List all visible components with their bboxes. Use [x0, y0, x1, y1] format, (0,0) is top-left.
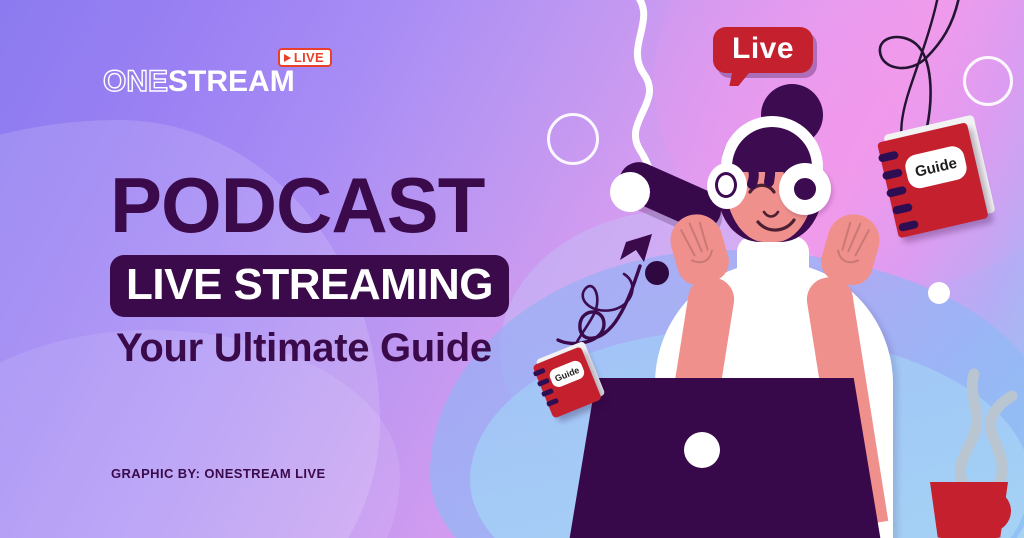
logo-word-stream: STREAM [168, 65, 295, 98]
headline-block: PODCAST LIVE STREAMING Your Ultimate Gui… [110, 168, 509, 368]
logo-live-badge-label: LIVE [294, 51, 324, 64]
play-triangle-icon [284, 54, 291, 62]
live-speech-bubble: Live [713, 27, 813, 73]
notebook-label-text: Guide [913, 154, 958, 180]
headline-line-1: PODCAST [110, 168, 509, 242]
decorative-ring-left [547, 113, 599, 165]
curved-arrow-icon [556, 232, 666, 357]
headline-line-3: Your Ultimate Guide [116, 328, 509, 368]
live-bubble-label: Live [732, 32, 794, 65]
laptop [568, 378, 882, 538]
graphic-credit: GRAPHIC BY: ONESTREAM LIVE [111, 466, 326, 481]
logo-wordmark: ONESTREAM [103, 67, 295, 97]
headphone-cup-left-inner [715, 172, 737, 198]
speech-bubble-tail [729, 71, 750, 86]
logo-word-one: ONE [103, 65, 168, 98]
decorative-dot-white [928, 282, 950, 304]
headphone-cup-right-inner [790, 174, 820, 204]
laptop-logo-icon [684, 432, 720, 468]
cup-body [930, 482, 1008, 538]
steam-icon [942, 360, 1024, 490]
headline-line-2: LIVE STREAMING [110, 255, 509, 317]
banner-canvas: Live [0, 0, 1024, 538]
